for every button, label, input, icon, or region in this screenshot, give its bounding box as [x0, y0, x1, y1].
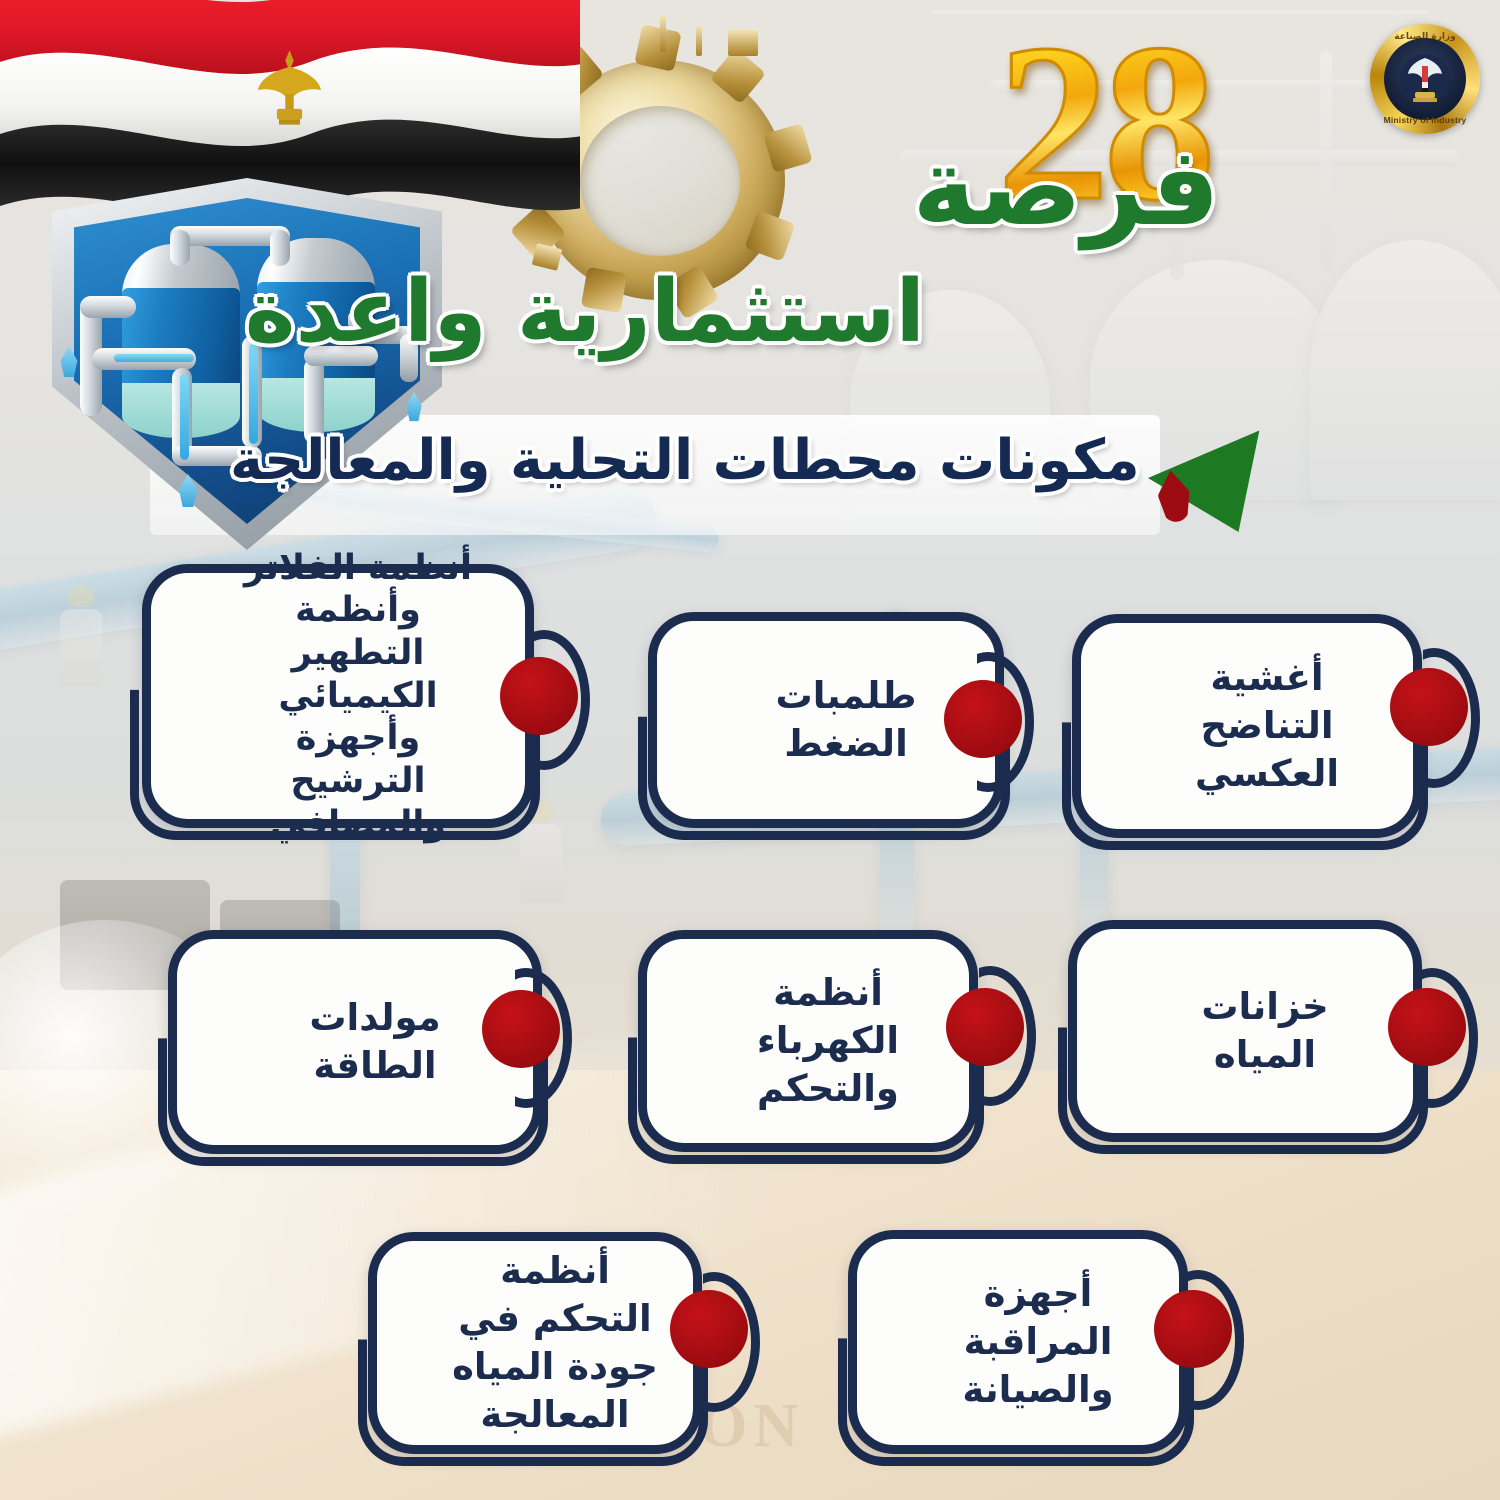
- infographic-canvas: ON &: [0, 0, 1500, 1500]
- card-membranes-label: أغشية التناضح العكسي: [1081, 648, 1413, 804]
- card-membranes[interactable]: أغشية التناضح العكسي: [1072, 614, 1422, 838]
- card-water-quality-control[interactable]: أنظمة التحكم في جودة المياه المعالجة: [368, 1232, 702, 1454]
- card-water-quality-control-bullet: [670, 1290, 748, 1368]
- card-electrical-label: أنظمة الكهرباء والتحكم: [647, 963, 969, 1119]
- section-arrow-marker: [1148, 418, 1278, 543]
- badge-english-label: Ministry of Industry: [1370, 115, 1480, 125]
- headline-line-2: استثمارية واعدة: [245, 262, 925, 362]
- card-filters[interactable]: أنظمة الفلاتر وأنظمة التطهير الكيميائي و…: [142, 564, 534, 828]
- ministry-of-industry-badge: وزارة الصناعة Ministry of Industry: [1370, 24, 1480, 134]
- background-worker-1: [60, 585, 102, 687]
- card-electrical-bullet: [946, 988, 1024, 1066]
- card-monitoring-maintenance-label: أجهزة المراقبة والصيانة: [857, 1264, 1179, 1420]
- card-monitoring-maintenance[interactable]: أجهزة المراقبة والصيانة: [848, 1230, 1188, 1454]
- card-filters-label: أنظمة الفلاتر وأنظمة التطهير الكيميائي و…: [151, 541, 525, 852]
- card-water-tanks-bullet: [1388, 988, 1466, 1066]
- card-filters-bullet: [500, 657, 578, 735]
- eagle-emblem-icon: [1398, 52, 1452, 106]
- water-treatment-logo: [52, 178, 442, 550]
- card-monitoring-maintenance-bullet: [1154, 1290, 1232, 1368]
- card-water-tanks-label: خزانات المياه: [1077, 977, 1413, 1085]
- card-electrical[interactable]: أنظمة الكهرباء والتحكم: [638, 930, 978, 1152]
- card-generators-bullet: [482, 990, 560, 1068]
- card-water-tanks[interactable]: خزانات المياه: [1068, 920, 1422, 1142]
- section-title: مكونات محطات التحلية والمعالجة: [230, 428, 1140, 493]
- card-pumps-bullet: [944, 680, 1022, 758]
- card-membranes-bullet: [1390, 668, 1468, 746]
- headline-line-1: فرصة: [912, 125, 1220, 250]
- card-water-quality-control-label: أنظمة التحكم في جودة المياه المعالجة: [377, 1241, 693, 1445]
